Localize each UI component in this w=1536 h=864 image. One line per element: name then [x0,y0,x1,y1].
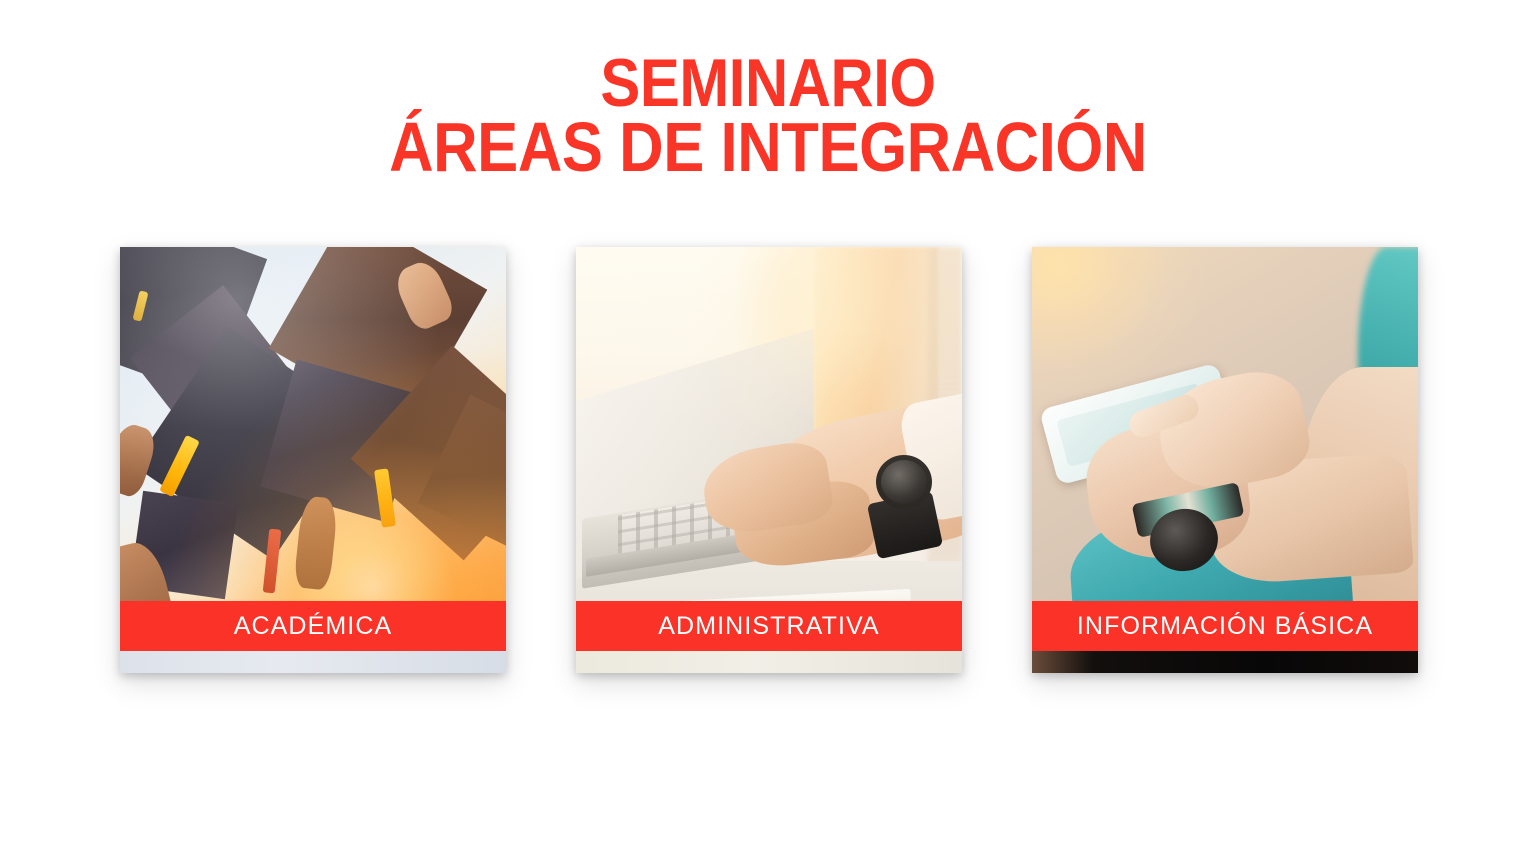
page-title: SEMINARIO ÁREAS DE INTEGRACIÓN [0,52,1536,180]
presentation-slide: SEMINARIO ÁREAS DE INTEGRACIÓN [0,0,1536,864]
card-banner-academica: ACADÉMICA [120,601,506,651]
card-label-academica: ACADÉMICA [234,614,393,639]
card-informacion-basica[interactable]: INFORMACIÓN BÁSICA [1032,247,1418,673]
card-banner-administrativa: ADMINISTRATIVA [576,601,962,651]
title-line-seminario: SEMINARIO [92,52,1444,115]
card-row: ACADÉMICA [120,247,1418,673]
card-image-bottom-strip [576,651,962,673]
card-image-bottom-strip [120,651,506,673]
card-banner-informacion-basica: INFORMACIÓN BÁSICA [1032,601,1418,651]
card-image-bottom-strip [1032,651,1418,673]
card-label-informacion-basica: INFORMACIÓN BÁSICA [1077,614,1373,639]
card-label-administrativa: ADMINISTRATIVA [658,614,879,639]
title-line-areas-de-integracion: ÁREAS DE INTEGRACIÓN [92,115,1444,180]
wristwatch-icon [876,455,932,509]
card-academica[interactable]: ACADÉMICA [120,247,506,673]
card-administrativa[interactable]: ADMINISTRATIVA [576,247,962,673]
